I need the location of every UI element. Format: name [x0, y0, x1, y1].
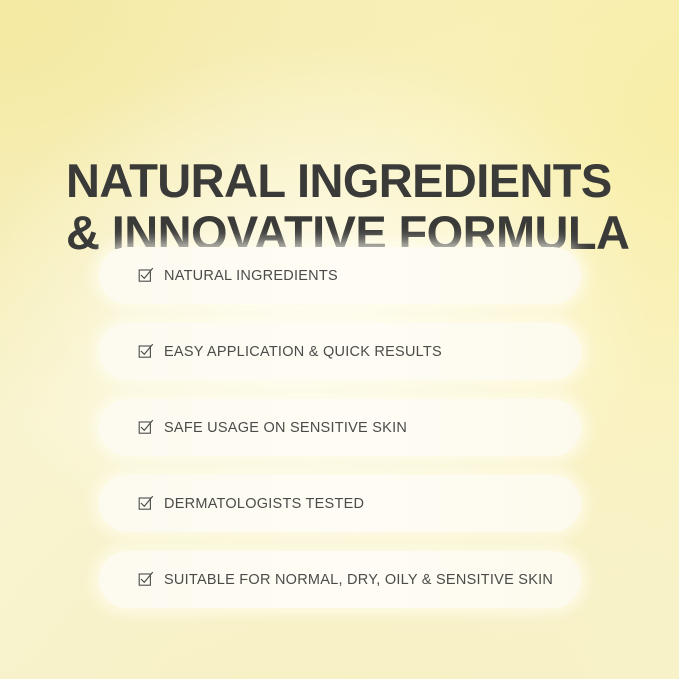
list-item: DERMATOLOGISTS TESTED — [99, 475, 581, 532]
checkbox-checked-icon — [139, 268, 153, 282]
list-item-label: SAFE USAGE ON SENSITIVE SKIN — [164, 420, 407, 436]
feature-list: NATURAL INGREDIENTS EASY APPLICATION & Q… — [99, 247, 581, 608]
list-item: SAFE USAGE ON SENSITIVE SKIN — [99, 399, 581, 456]
list-item: SUITABLE FOR NORMAL, DRY, OILY & SENSITI… — [99, 551, 581, 608]
checkbox-checked-icon — [139, 344, 153, 358]
list-item-label: DERMATOLOGISTS TESTED — [164, 496, 364, 512]
list-item-label: NATURAL INGREDIENTS — [164, 268, 338, 284]
poster-content: NATURAL INGREDIENTS & INNOVATIVE FORMULA… — [0, 0, 679, 679]
checkbox-checked-icon — [139, 496, 153, 510]
list-item: NATURAL INGREDIENTS — [99, 247, 581, 304]
checkbox-checked-icon — [139, 572, 153, 586]
list-item-label: EASY APPLICATION & QUICK RESULTS — [164, 344, 442, 360]
poster-canvas: NATURAL INGREDIENTS & INNOVATIVE FORMULA… — [0, 0, 679, 679]
list-item: EASY APPLICATION & QUICK RESULTS — [99, 323, 581, 380]
list-item-label: SUITABLE FOR NORMAL, DRY, OILY & SENSITI… — [164, 572, 553, 588]
page-title: NATURAL INGREDIENTS & INNOVATIVE FORMULA — [66, 155, 646, 259]
checkbox-checked-icon — [139, 420, 153, 434]
